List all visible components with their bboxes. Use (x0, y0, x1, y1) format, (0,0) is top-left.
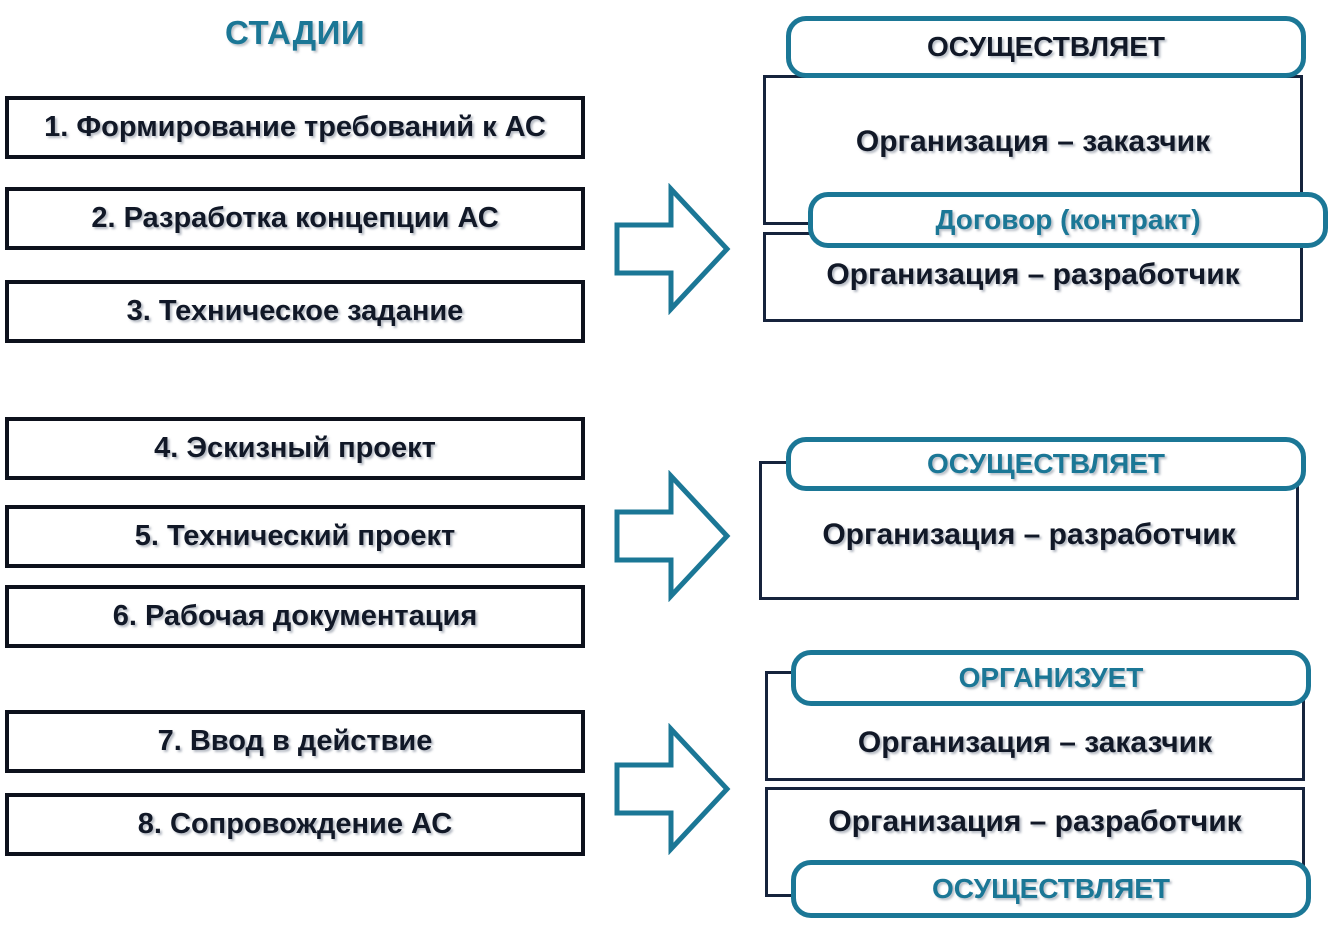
group-1-lower-role-label: Организация – разработчик (763, 258, 1303, 292)
group-3-bottom-pill[interactable]: ОСУЩЕСТВЛЯЕТ (791, 860, 1311, 918)
arrow-right-icon-group-2 (613, 470, 731, 602)
group-3-lower-role-label: Организация – разработчик (765, 805, 1305, 839)
group-3-upper-role-label: Организация – заказчик (765, 726, 1305, 760)
stage-box-3[interactable]: 3. Техническое задание (5, 280, 585, 343)
diagram-canvas: СТАДИИ 1. Формирование требований к АС 2… (0, 0, 1339, 941)
stage-box-5[interactable]: 5. Технический проект (5, 505, 585, 568)
group-2-top-pill[interactable]: ОСУЩЕСТВЛЯЕТ (786, 437, 1306, 491)
group-3-top-pill[interactable]: ОРГАНИЗУЕТ (791, 650, 1311, 706)
group-1-contract-pill[interactable]: Договор (контракт) (808, 192, 1328, 248)
stage-box-8[interactable]: 8. Сопровождение АС (5, 793, 585, 856)
group-1-top-pill[interactable]: ОСУЩЕСТВЛЯЕТ (786, 16, 1306, 78)
page-title: СТАДИИ (5, 14, 585, 52)
group-1-upper-role-label: Организация – заказчик (763, 125, 1303, 159)
stage-box-1[interactable]: 1. Формирование требований к АС (5, 96, 585, 159)
stage-box-2[interactable]: 2. Разработка концепции АС (5, 187, 585, 250)
group-2-upper-role-label: Организация – разработчик (759, 518, 1299, 552)
stage-box-7[interactable]: 7. Ввод в действие (5, 710, 585, 773)
arrow-right-icon-group-3 (613, 723, 731, 855)
arrow-right-icon-group-1 (613, 183, 731, 315)
stage-box-4[interactable]: 4. Эскизный проект (5, 417, 585, 480)
stage-box-6[interactable]: 6. Рабочая документация (5, 585, 585, 648)
